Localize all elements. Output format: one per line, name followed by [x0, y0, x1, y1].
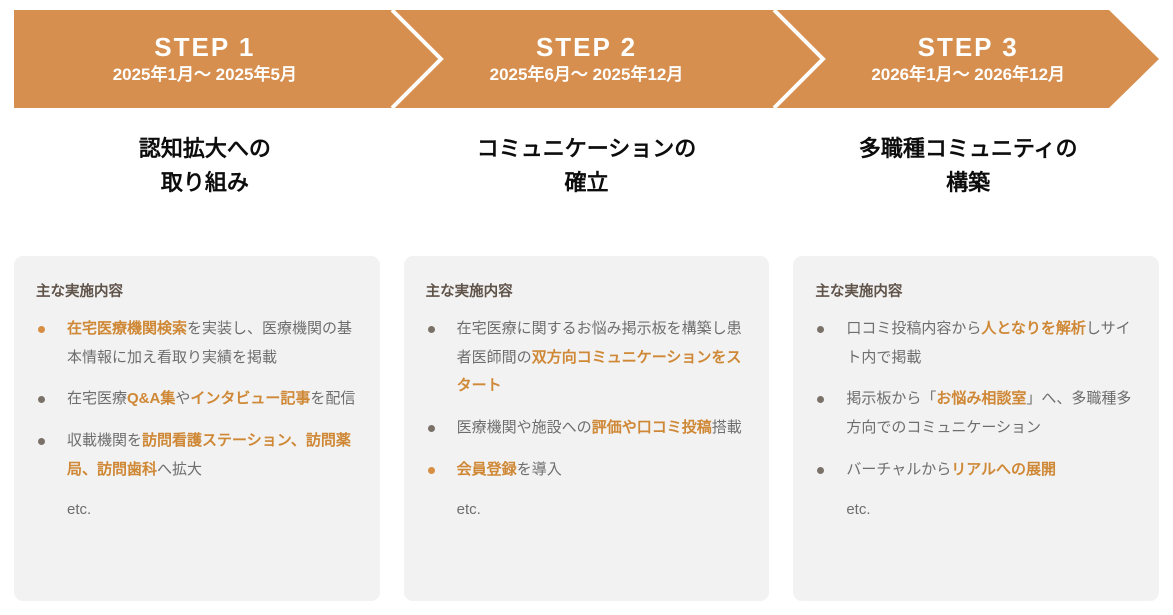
bullet-emphasis-text: Q&A集 — [127, 390, 175, 407]
step-2-period: 2025年6月〜 2025年12月 — [490, 65, 684, 85]
column-headings: 認知拡大への 取り組み コミュニケーションの 確立 多職種コミュニティの 構築 — [14, 132, 1159, 200]
bullet-item: 在宅医療Q&A集やインタビュー記事を配信 — [36, 385, 358, 414]
bullet-dot-icon — [38, 396, 45, 403]
step-1-banner-label: STEP 1 2025年1月〜 2025年5月 — [14, 10, 396, 108]
bullet-emphasis-text: お悩み相談室 — [936, 390, 1026, 407]
step-2-heading-line2: 確立 — [410, 166, 764, 200]
step-2-heading: コミュニケーションの 確立 — [396, 132, 778, 200]
step-1-heading-line2: 取り組み — [28, 166, 382, 200]
bullet-emphasis-text: 在宅医療機関検索 — [67, 320, 187, 337]
bullet-text: バーチャルから — [846, 461, 951, 478]
bullet-text: へ拡大 — [157, 461, 202, 478]
step-3-banner-label: STEP 3 2026年1月〜 2026年12月 — [777, 10, 1159, 108]
bullet-text: 収載機関を — [67, 432, 142, 449]
bullet-dot-icon — [428, 326, 435, 333]
bullet-text: を配信 — [310, 390, 355, 407]
bullet-dot-icon — [428, 425, 435, 432]
bullet-text: 掲示板から「 — [846, 390, 936, 407]
step-3-title: STEP 3 — [918, 33, 1019, 62]
step-2-card: 主な実施内容 在宅医療に関するお悩み掲示板を構築し患者医師間の双方向コミュニケー… — [404, 256, 770, 601]
bullet-text: や — [175, 390, 190, 407]
step-2-card-title: 主な実施内容 — [426, 283, 748, 302]
step-1-card: 主な実施内容 在宅医療機関検索を実装し、医療機関の基本情報に加え看取り実績を掲載… — [14, 256, 380, 601]
bullet-text: を導入 — [517, 461, 562, 478]
step-3-heading-line1: 多職種コミュニティの — [791, 132, 1145, 166]
bullet-dot-icon — [38, 438, 45, 445]
step-3-etc: etc. — [815, 496, 1137, 525]
step-2-etc: etc. — [426, 496, 748, 525]
bullet-dot-icon — [38, 326, 45, 333]
bullet-text: 医療機関や施設への — [457, 419, 592, 436]
bullet-emphasis-text: リアルへの展開 — [951, 461, 1056, 478]
step-2-title: STEP 2 — [536, 33, 637, 62]
bullet-item: 在宅医療機関検索を実装し、医療機関の基本情報に加え看取り実績を掲載 — [36, 315, 358, 373]
step-3-card-title: 主な実施内容 — [815, 283, 1137, 302]
step-arrow-banner: STEP 1 2025年1月〜 2025年5月 STEP 2 2025年6月〜 … — [14, 10, 1159, 108]
bullet-item: 医療機関や施設への評価や口コミ投稿搭載 — [426, 414, 748, 443]
step-label-row: STEP 1 2025年1月〜 2025年5月 STEP 2 2025年6月〜 … — [14, 10, 1159, 108]
step-3-heading-line2: 構築 — [791, 166, 1145, 200]
step-3-heading: 多職種コミュニティの 構築 — [777, 132, 1159, 200]
bullet-emphasis-text: 人となりを解析 — [981, 320, 1086, 337]
bullet-item: 掲示板から「お悩み相談室」へ、多職種多方向でのコミュニケーション — [815, 385, 1137, 443]
bullet-item: 口コミ投稿内容から人となりを解析しサイト内で掲載 — [815, 315, 1137, 373]
step-1-period: 2025年1月〜 2025年5月 — [113, 65, 297, 85]
bullet-dot-icon — [817, 467, 824, 474]
step-1-title: STEP 1 — [154, 33, 255, 62]
step-3-card: 主な実施内容 口コミ投稿内容から人となりを解析しサイト内で掲載掲示板から「お悩み… — [793, 256, 1159, 601]
bullet-text: 口コミ投稿内容から — [846, 320, 981, 337]
bullet-emphasis-text: インタビュー記事 — [190, 390, 310, 407]
bullet-dot-icon — [817, 396, 824, 403]
bullet-text: 在宅医療 — [67, 390, 127, 407]
bullet-item: 収載機関を訪問看護ステーション、訪問薬局、訪問歯科へ拡大 — [36, 427, 358, 485]
bullet-emphasis-text: 評価や口コミ投稿 — [592, 419, 712, 436]
bullet-dot-icon — [428, 467, 435, 474]
step-2-heading-line1: コミュニケーションの — [410, 132, 764, 166]
step-1-card-title: 主な実施内容 — [36, 283, 358, 302]
step-2-bullet-list: 在宅医療に関するお悩み掲示板を構築し患者医師間の双方向コミュニケーションをスター… — [426, 315, 748, 485]
bullet-item: 会員登録を導入 — [426, 456, 748, 485]
step-1-bullet-list: 在宅医療機関検索を実装し、医療機関の基本情報に加え看取り実績を掲載在宅医療Q&A… — [36, 315, 358, 485]
step-1-heading: 認知拡大への 取り組み — [14, 132, 396, 200]
bullet-dot-icon — [817, 326, 824, 333]
step-3-period: 2026年1月〜 2026年12月 — [871, 65, 1065, 85]
bullet-emphasis-text: 会員登録 — [457, 461, 517, 478]
step-1-heading-line1: 認知拡大への — [28, 132, 382, 166]
bullet-text: 搭載 — [712, 419, 742, 436]
content-card-row: 主な実施内容 在宅医療機関検索を実装し、医療機関の基本情報に加え看取り実績を掲載… — [14, 256, 1159, 601]
bullet-item: バーチャルからリアルへの展開 — [815, 456, 1137, 485]
step-2-banner-label: STEP 2 2025年6月〜 2025年12月 — [396, 10, 778, 108]
bullet-item: 在宅医療に関するお悩み掲示板を構築し患者医師間の双方向コミュニケーションをスター… — [426, 315, 748, 401]
step-1-etc: etc. — [36, 496, 358, 525]
step-3-bullet-list: 口コミ投稿内容から人となりを解析しサイト内で掲載掲示板から「お悩み相談室」へ、多… — [815, 315, 1137, 485]
